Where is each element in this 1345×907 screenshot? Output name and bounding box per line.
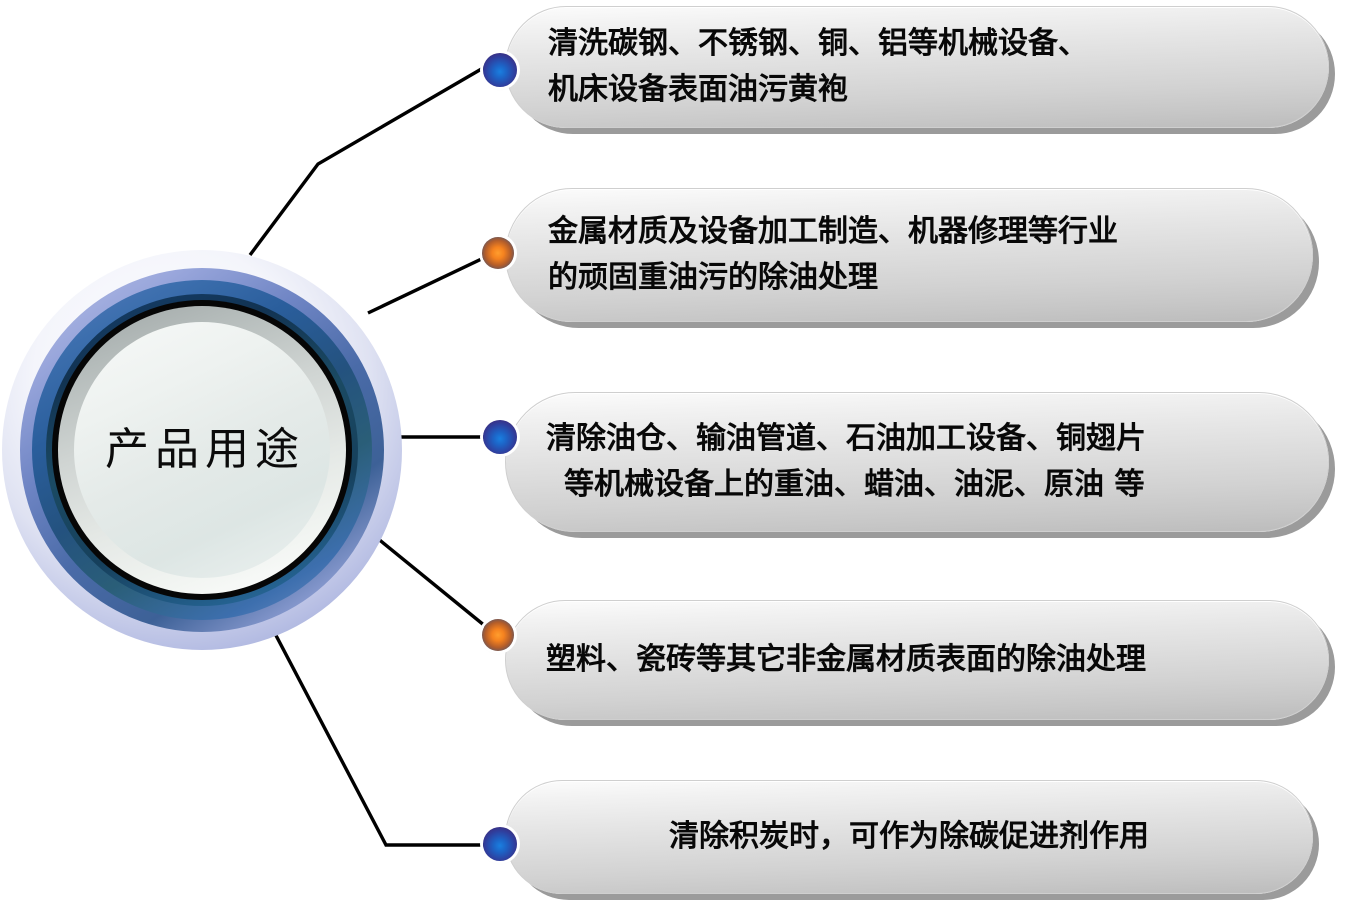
item-row-5: 清除积炭时，可作为除碳促进剂作用 [505,780,1345,902]
item-row-3: 清除油仓、输油管道、石油加工设备、铜翅片 等机械设备上的重油、蜡油、油泥、原油 … [505,392,1345,540]
connector-line-1 [250,64,490,255]
hub-face: 产品用途 [74,322,330,578]
item-pill-5[interactable]: 清除积炭时，可作为除碳促进剂作用 [505,780,1313,894]
item-bullet-5[interactable] [483,827,517,861]
hub-label: 产品用途 [99,428,305,472]
item-row-2: 金属材质及设备加工制造、机器修理等行业 的顽固重油污的除油处理 [505,188,1345,330]
item-row-4: 塑料、瓷砖等其它非金属材质表面的除油处理 [505,600,1345,728]
item-pill-1[interactable]: 清洗碳钢、不锈钢、铜、铝等机械设备、 机床设备表面油污黄袍 [505,6,1329,128]
item-pill-3[interactable]: 清除油仓、输油管道、石油加工设备、铜翅片 等机械设备上的重油、蜡油、油泥、原油 … [505,392,1329,532]
item-line-1-2: 机床设备表面油污黄袍 [548,67,1328,114]
item-line-3-1: 清除油仓、输油管道、石油加工设备、铜翅片 [546,416,1328,463]
connector-line-5 [270,624,492,845]
item-line-4-1: 塑料、瓷砖等其它非金属材质表面的除油处理 [546,637,1328,684]
item-bullet-4[interactable] [482,619,514,651]
item-bullet-1[interactable] [483,53,517,87]
item-line-1-1: 清洗碳钢、不锈钢、铜、铝等机械设备、 [548,21,1328,68]
item-line-5-1: 清除积炭时，可作为除碳促进剂作用 [669,814,1149,861]
item-line-2-2: 的顽固重油污的除油处理 [548,255,1312,302]
item-line-2-1: 金属材质及设备加工制造、机器修理等行业 [548,209,1312,256]
item-line-3-2: 等机械设备上的重油、蜡油、油泥、原油 等 [546,462,1328,509]
diagram-canvas: 产品用途 清洗碳钢、不锈钢、铜、铝等机械设备、 机床设备表面油污黄袍 金属材质及… [0,0,1345,907]
item-bullet-3[interactable] [483,420,517,454]
center-hub[interactable]: 产品用途 [2,250,402,650]
item-pill-4[interactable]: 塑料、瓷砖等其它非金属材质表面的除油处理 [505,600,1329,720]
item-bullet-2[interactable] [482,237,514,269]
item-pill-2[interactable]: 金属材质及设备加工制造、机器修理等行业 的顽固重油污的除油处理 [505,188,1313,322]
item-row-1: 清洗碳钢、不锈钢、铜、铝等机械设备、 机床设备表面油污黄袍 [505,6,1345,136]
